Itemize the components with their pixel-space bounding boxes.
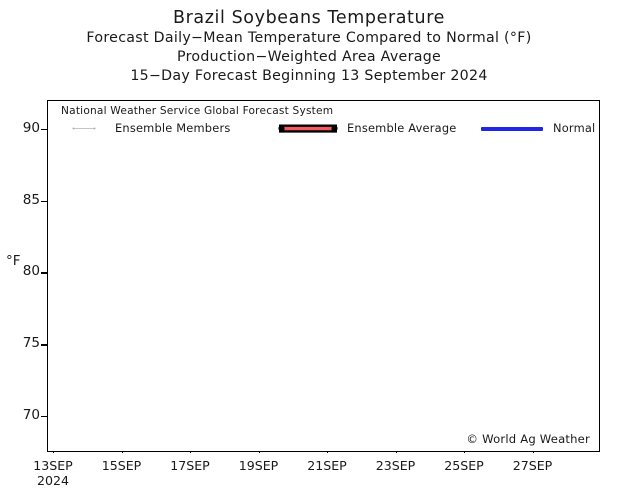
legend: National Weather Service Global Forecast… xyxy=(47,100,600,140)
x-axis-tick-label: 13SEP xyxy=(18,458,88,473)
y-axis-tick-label: 70 xyxy=(6,407,40,423)
chart-page: Brazil Soybeans Temperature Forecast Dai… xyxy=(0,0,618,488)
plot-frame xyxy=(47,100,600,452)
chart-subtitle-line-3: 15−Day Forecast Beginning 13 September 2… xyxy=(0,67,618,86)
chart-subtitle-line-2: Production−Weighted Area Average xyxy=(0,48,618,67)
y-axis-tick-label: 75 xyxy=(6,335,40,351)
legend-ensemble-members-label: Ensemble Members xyxy=(115,121,230,135)
legend-ensemble-average-label: Ensemble Average xyxy=(347,121,456,135)
x-axis-tick-label: 21SEP xyxy=(292,458,362,473)
x-axis-year-label: 2024 xyxy=(18,473,88,488)
x-axis-tick-label: 23SEP xyxy=(361,458,431,473)
legend-normal-label: Normal xyxy=(553,121,595,135)
ensemble-members-swatch xyxy=(60,127,108,130)
y-axis-tick-label: 90 xyxy=(6,120,40,136)
x-axis-tick-label: 17SEP xyxy=(155,458,225,473)
x-axis-tick-label: 15SEP xyxy=(87,458,157,473)
x-axis-tick-label: 25SEP xyxy=(429,458,499,473)
x-axis-tick-label: 19SEP xyxy=(224,458,294,473)
legend-title: National Weather Service Global Forecast… xyxy=(61,105,333,117)
y-axis-ticks: 7075808590 xyxy=(0,0,40,488)
ensemble-average-swatch xyxy=(277,124,339,133)
normal-swatch xyxy=(481,127,543,131)
title-block: Brazil Soybeans Temperature Forecast Dai… xyxy=(0,0,618,86)
y-axis-tick-label: 85 xyxy=(6,192,40,208)
y-axis-tick-label: 80 xyxy=(6,263,40,279)
chart-title: Brazil Soybeans Temperature xyxy=(0,8,618,29)
x-axis-tick-label: 27SEP xyxy=(498,458,568,473)
chart-subtitle-line-1: Forecast Daily−Mean Temperature Compared… xyxy=(0,29,618,48)
